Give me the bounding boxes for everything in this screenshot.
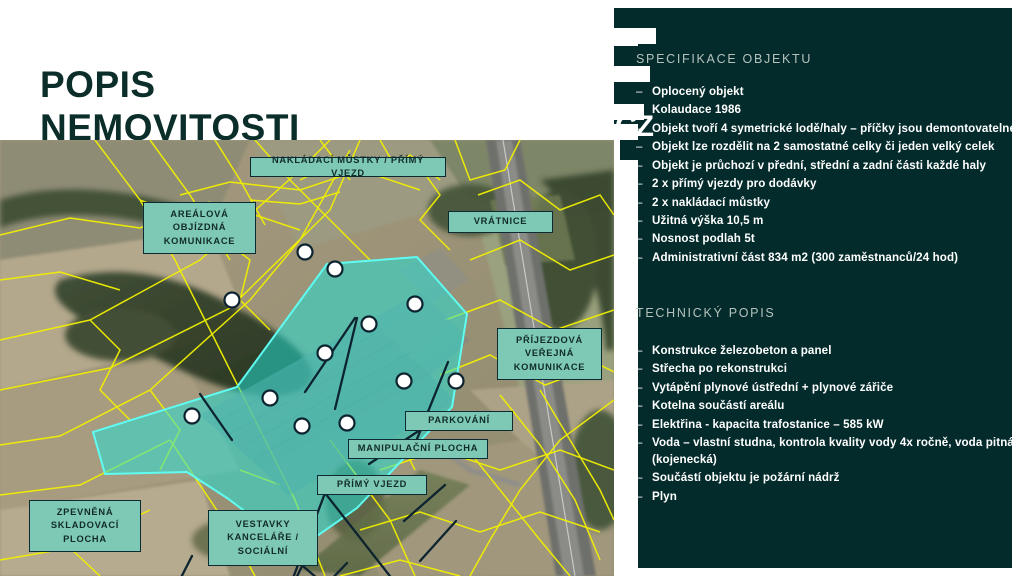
map-marker-dot[interactable]: [298, 245, 313, 260]
map-callout-arealova-objizdna[interactable]: AREÁLOVÁ OBJÍZDNÁ KOMUNIKACE: [143, 202, 256, 254]
map-marker-dot[interactable]: [408, 297, 423, 312]
bullet-marker: –: [636, 250, 643, 267]
map-marker-dot[interactable]: [362, 317, 377, 332]
section-heading-specifikace: SPECIFIKACE OBJEKTU: [636, 52, 812, 66]
bullet-text: Střecha po rekonstrukci: [652, 362, 787, 375]
technical-bullet-list: –Konstrukce železobeton a panel–Střecha …: [636, 343, 1016, 507]
bullet-text: Nosnost podlah 5t: [652, 232, 755, 245]
map-marker-dot[interactable]: [225, 293, 240, 308]
bullet-marker: –: [636, 435, 643, 452]
bullet-item: –2 x přímý vjezdy pro dodávky: [636, 176, 1016, 193]
site-aerial-map[interactable]: NAKLÁDACÍ MŮSTKY / PŘÍMÝ VJEZDAREÁLOVÁ O…: [0, 140, 614, 576]
map-callout-prijezdova-verejna[interactable]: PŘÍJEZDOVÁ VEŘEJNÁ KOMUNIKACE: [497, 328, 602, 380]
map-callout-zpevnena-skladovaci[interactable]: ZPEVNĚNÁ SKLADOVACÍ PLOCHA: [29, 500, 141, 552]
bullet-item: –Kolaudace 1986: [636, 102, 1016, 119]
bullet-item: –Střecha po rekonstrukci: [636, 361, 1016, 378]
bullet-text: Plyn: [652, 490, 677, 503]
bullet-text: Administrativní část 834 m2 (300 zaměstn…: [652, 251, 958, 264]
bullet-item: –Objekt tvoří 4 symetrické lodě/haly – p…: [636, 121, 1016, 138]
bullet-text: Objekt lze rozdělit na 2 samostatné celk…: [652, 140, 995, 153]
map-callout-parkovani[interactable]: PARKOVÁNÍ: [405, 411, 513, 431]
map-marker-dot[interactable]: [340, 416, 355, 431]
bullet-marker: –: [636, 361, 643, 378]
map-callout-nakladaci-mustky[interactable]: NAKLÁDACÍ MŮSTKY / PŘÍMÝ VJEZD: [250, 157, 446, 177]
bullet-marker: –: [636, 84, 643, 101]
bullet-marker: –: [636, 343, 643, 360]
bullet-item: –Kotelna součástí areálu: [636, 398, 1016, 415]
bullet-item: –Elektřina - kapacita trafostanice – 585…: [636, 417, 1016, 434]
bullet-text: Vytápění plynové ústřední + plynové záři…: [652, 381, 893, 394]
bullet-item: –Objekt je průchozí v přední, střední a …: [636, 158, 1016, 175]
map-marker-dot[interactable]: [295, 419, 310, 434]
bullet-marker: –: [636, 195, 643, 212]
bullet-marker: –: [636, 417, 643, 434]
map-callout-vratnice[interactable]: VRÁTNICE: [448, 211, 553, 233]
bullet-text: Objekt je průchozí v přední, střední a z…: [652, 159, 986, 172]
bullet-item: –Plyn: [636, 489, 1016, 506]
bullet-marker: –: [636, 158, 643, 175]
bullet-text: Kolaudace 1986: [652, 103, 741, 116]
map-callout-vestavky-kancelare[interactable]: VESTAVKY KANCELÁŘE / SOCIÁLNÍ: [208, 510, 318, 566]
logo-wordmark: CZ: [615, 112, 653, 142]
bullet-text: Elektřina - kapacita trafostanice – 585 …: [652, 418, 884, 431]
map-marker-dot[interactable]: [328, 262, 343, 277]
bullet-text: Oplocený objekt: [652, 85, 744, 98]
bullet-item: –Konstrukce železobeton a panel: [636, 343, 1016, 360]
bullet-text: Kotelna součástí areálu: [652, 399, 784, 412]
bullet-marker: –: [636, 398, 643, 415]
bullet-text: Užitná výška 10,5 m: [652, 214, 763, 227]
bullet-marker: –: [636, 231, 643, 248]
bullet-text: 2 x nakládací můstky: [652, 196, 770, 209]
map-marker-dot[interactable]: [318, 346, 333, 361]
bullet-item: –Administrativní část 834 m2 (300 zaměst…: [636, 250, 1016, 267]
map-marker-dot[interactable]: [263, 391, 278, 406]
bullet-item: –Součástí objektu je požární nádrž: [636, 470, 1016, 487]
page-title: POPIS NEMOVITOSTI: [40, 63, 580, 150]
bullet-item: –Nosnost podlah 5t: [636, 231, 1016, 248]
bullet-item: –Voda – vlastní studna, kontrola kvality…: [636, 435, 1016, 469]
bullet-item: –Oplocený objekt: [636, 84, 1016, 101]
bullet-marker: –: [636, 489, 643, 506]
map-marker-dot[interactable]: [449, 374, 464, 389]
bullet-text: 2 x přímý vjezdy pro dodávky: [652, 177, 817, 190]
map-callout-primy-vjezd[interactable]: PŘÍMÝ VJEZD: [317, 475, 427, 495]
bullet-marker: –: [636, 380, 643, 397]
section-heading-technicky: TECHNICKÝ POPIS: [636, 306, 775, 320]
map-marker-dot[interactable]: [397, 374, 412, 389]
bullet-text: Objekt tvoří 4 symetrické lodě/haly – př…: [652, 122, 1016, 135]
bullet-text: Voda – vlastní studna, kontrola kvality …: [652, 436, 1014, 466]
map-marker-dot[interactable]: [185, 409, 200, 424]
left-content-pane: POPIS NEMOVITOSTI: [0, 0, 614, 576]
bullet-item: –2 x nakládací můstky: [636, 195, 1016, 212]
bullet-item: –Užitná výška 10,5 m: [636, 213, 1016, 230]
bullet-marker: –: [636, 213, 643, 230]
map-callout-manipulacni-plocha[interactable]: MANIPULAČNÍ PLOCHA: [348, 439, 488, 459]
bullet-item: –Vytápění plynové ústřední + plynové zář…: [636, 380, 1016, 397]
bullet-item: –Objekt lze rozdělit na 2 samostatné cel…: [636, 139, 1016, 156]
specification-bullet-list: –Oplocený objekt–Kolaudace 1986–Objekt t…: [636, 84, 1016, 268]
bullet-text: Konstrukce železobeton a panel: [652, 344, 832, 357]
bullet-text: Součástí objektu je požární nádrž: [652, 471, 840, 484]
bullet-marker: –: [636, 470, 643, 487]
bullet-marker: –: [636, 176, 643, 193]
right-info-panel: SPECIFIKACE OBJEKTU –Oplocený objekt–Kol…: [614, 0, 1024, 576]
